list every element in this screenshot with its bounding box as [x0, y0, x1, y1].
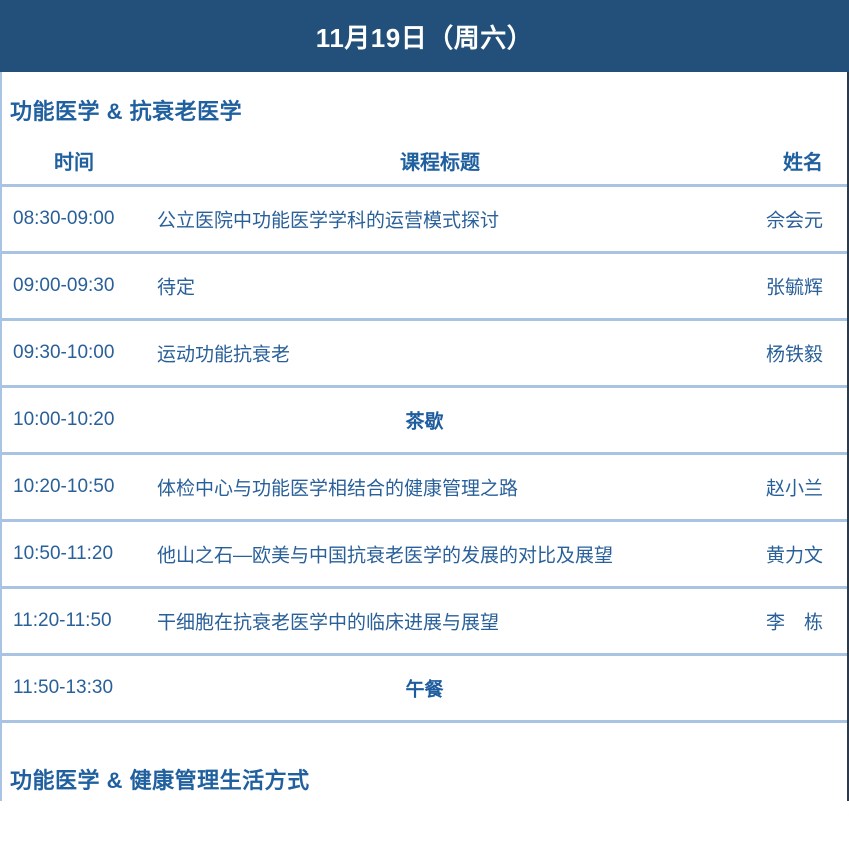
table-row-break[interactable]: 10:00-10:20 茶歇 — [2, 388, 847, 455]
row-title: 体检中心与功能医学相结合的健康管理之路 — [157, 474, 518, 501]
row-time: 10:20-10:50 — [13, 476, 114, 498]
row-time: 08:30-09:00 — [13, 208, 114, 230]
table-row[interactable]: 11:20-11:50 干细胞在抗衰老医学中的临床进展与展望 李 栋 — [2, 589, 847, 656]
column-header-title: 课程标题 — [400, 146, 480, 175]
row-name: 黄力文 — [766, 541, 823, 568]
section-heading-1: 功能医学 & 抗衰老医学 — [2, 72, 847, 132]
row-break-label: 茶歇 — [2, 407, 847, 434]
table-row[interactable]: 08:30-09:00 公立医院中功能医学学科的运营模式探讨 佘会元 — [2, 187, 847, 254]
row-time: 09:30-10:00 — [13, 342, 114, 364]
row-title: 干细胞在抗衰老医学中的临床进展与展望 — [157, 608, 499, 635]
row-break-label: 午餐 — [2, 675, 847, 702]
row-time: 11:20-11:50 — [13, 610, 112, 632]
table-row[interactable]: 10:50-11:20 他山之石—欧美与中国抗衰老医学的发展的对比及展望 黄力文 — [2, 522, 847, 589]
table-row[interactable]: 09:00-09:30 待定 张毓辉 — [2, 254, 847, 321]
schedule-rows: 08:30-09:00 公立医院中功能医学学科的运营模式探讨 佘会元 09:00… — [2, 184, 847, 723]
row-name: 杨铁毅 — [766, 340, 823, 367]
row-name: 李 栋 — [766, 608, 823, 635]
day-banner-date: 11月19日（周六） — [316, 18, 533, 55]
column-header-name: 姓名 — [783, 146, 823, 175]
schedule-page: 11月19日（周六） 功能医学 & 抗衰老医学 时间 课程标题 姓名 08:30… — [0, 0, 849, 864]
row-name: 张毓辉 — [766, 273, 823, 300]
day-banner: 11月19日（周六） — [0, 0, 849, 72]
row-title: 公立医院中功能医学学科的运营模式探讨 — [157, 206, 499, 233]
table-row[interactable]: 09:30-10:00 运动功能抗衰老 杨铁毅 — [2, 321, 847, 388]
row-title: 运动功能抗衰老 — [157, 340, 290, 367]
column-header-row: 时间 课程标题 姓名 — [2, 132, 847, 184]
row-name: 赵小兰 — [766, 474, 823, 501]
row-time: 09:00-09:30 — [13, 275, 114, 297]
column-header-time: 时间 — [54, 146, 94, 175]
table-row-break[interactable]: 11:50-13:30 午餐 — [2, 656, 847, 723]
table-row[interactable]: 10:20-10:50 体检中心与功能医学相结合的健康管理之路 赵小兰 — [2, 455, 847, 522]
schedule-sheet: 功能医学 & 抗衰老医学 时间 课程标题 姓名 08:30-09:00 公立医院… — [0, 72, 849, 801]
section-heading-2: 功能医学 & 健康管理生活方式 — [2, 723, 847, 801]
row-title: 他山之石—欧美与中国抗衰老医学的发展的对比及展望 — [157, 541, 613, 568]
row-name: 佘会元 — [766, 206, 823, 233]
row-title: 待定 — [157, 273, 195, 300]
row-time: 10:50-11:20 — [13, 543, 113, 565]
